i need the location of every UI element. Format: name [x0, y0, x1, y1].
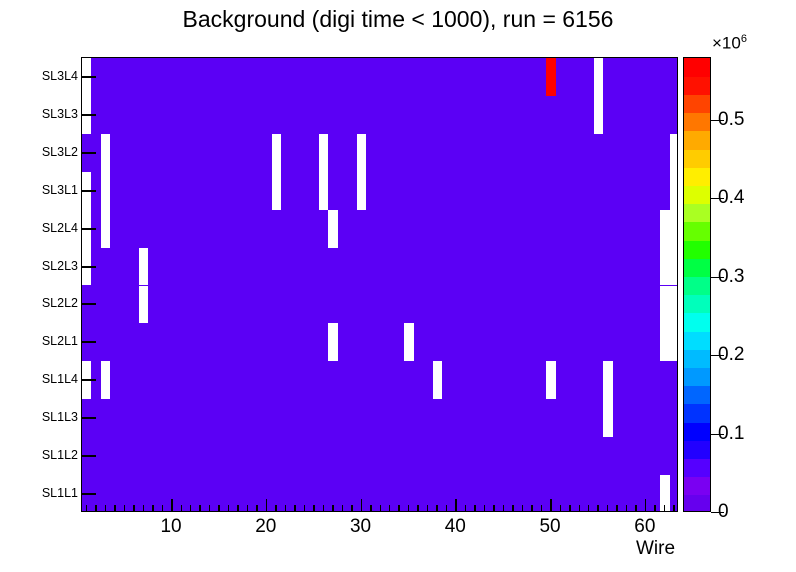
x-axis-minor-tick [304, 505, 306, 512]
heatmap-cell-empty[interactable] [404, 323, 413, 361]
y-axis-tick-label: SL2L4 [42, 221, 78, 235]
x-axis-minor-tick [380, 505, 382, 512]
x-axis-minor-tick [114, 505, 116, 512]
x-axis-minor-tick [181, 505, 183, 512]
palette-band [684, 258, 710, 277]
x-axis-minor-tick [408, 505, 410, 512]
y-axis-tick-mark [81, 493, 96, 495]
x-axis-minor-tick [417, 505, 419, 512]
palette-band [684, 313, 710, 332]
y-axis-tick-label: SL1L4 [42, 372, 78, 386]
y-axis-tick-mark [81, 455, 96, 457]
heatmap-cell-empty[interactable] [660, 248, 677, 286]
heatmap-cell-empty[interactable] [603, 361, 612, 399]
y-axis-tick-label: SL2L1 [42, 334, 78, 348]
heatmap-cells[interactable] [82, 58, 677, 511]
y-axis-tick-mark [81, 266, 96, 268]
x-axis-minor-tick [237, 505, 239, 512]
x-axis-minor-tick [446, 505, 448, 512]
palette-band [684, 495, 710, 512]
heatmap-cell-empty[interactable] [272, 134, 281, 172]
heatmap-cell-empty[interactable] [319, 172, 328, 210]
z-axis-tick-mark [711, 120, 724, 121]
y-axis-tick-mark [81, 417, 96, 419]
x-axis-minor-tick [133, 505, 135, 512]
x-axis-tick-label: 10 [160, 516, 181, 538]
plot-frame[interactable] [81, 57, 678, 512]
palette-band [684, 349, 710, 368]
heatmap-cell-empty[interactable] [101, 361, 110, 399]
x-axis-minor-tick [370, 505, 372, 512]
x-axis-minor-tick [218, 505, 220, 512]
x-axis-minor-tick [626, 505, 628, 512]
y-axis-tick-label: SL3L1 [42, 183, 78, 197]
palette-band [684, 458, 710, 477]
palette-band [684, 440, 710, 459]
x-axis-minor-tick [351, 505, 353, 512]
x-axis-minor-tick [474, 505, 476, 512]
palette-band [684, 167, 710, 186]
y-axis-tick-mark [81, 152, 96, 154]
x-axis-major-tick [550, 499, 552, 512]
palette-band [684, 185, 710, 204]
heatmap-cell-empty[interactable] [546, 361, 555, 399]
x-axis-tick-label: 60 [634, 516, 655, 538]
x-axis-tick-label: 20 [255, 516, 276, 538]
x-axis-minor-tick [190, 505, 192, 512]
x-axis-minor-tick [199, 505, 201, 512]
y-axis-tick-mark [81, 190, 96, 192]
x-axis-major-tick [455, 499, 457, 512]
x-axis-minor-tick [560, 505, 562, 512]
heatmap-cell-empty[interactable] [328, 210, 337, 248]
palette-band [684, 477, 710, 496]
color-palette-bar [683, 57, 711, 512]
x-axis-minor-tick [294, 505, 296, 512]
palette-band [684, 58, 710, 77]
x-axis-minor-tick [522, 505, 524, 512]
palette-band [684, 76, 710, 95]
heatmap-cell-empty[interactable] [670, 172, 677, 210]
x-axis-minor-tick [512, 505, 514, 512]
x-axis-minor-tick [635, 505, 637, 512]
x-axis-minor-tick [465, 505, 467, 512]
y-axis-tick-mark [81, 341, 96, 343]
y-axis-labels: SL3L4SL3L3SL3L2SL3L1SL2L4SL2L3SL2L2SL2L1… [0, 0, 78, 572]
x-axis-minor-tick [228, 505, 230, 512]
x-axis-labels: 102030405060 [0, 516, 796, 546]
x-axis-major-tick [645, 499, 647, 512]
plot-title: Background (digi time < 1000), run = 615… [0, 6, 796, 33]
palette-band [684, 149, 710, 168]
y-axis-tick-label: SL3L3 [42, 107, 78, 121]
heatmap-base-fill [82, 58, 677, 511]
x-axis-minor-tick [143, 505, 145, 512]
palette-band [684, 131, 710, 150]
heatmap-cell-empty[interactable] [433, 361, 442, 399]
palette-band [684, 331, 710, 350]
y-axis-tick-label: SL1L1 [42, 486, 78, 500]
heatmap-cell-empty[interactable] [357, 172, 366, 210]
x-axis-minor-tick [531, 505, 533, 512]
x-axis-minor-tick [541, 505, 543, 512]
palette-band [684, 422, 710, 441]
x-axis-minor-tick [332, 505, 334, 512]
y-axis-tick-mark [81, 76, 96, 78]
x-axis-minor-tick [389, 505, 391, 512]
z-axis-tick-mark [711, 434, 724, 435]
heatmap-cell-empty[interactable] [670, 134, 677, 172]
heatmap-cell-empty[interactable] [319, 134, 328, 172]
x-axis-minor-tick [162, 505, 164, 512]
y-axis-tick-label: SL2L3 [42, 259, 78, 273]
heatmap-cell-empty[interactable] [272, 172, 281, 210]
root-canvas: Background (digi time < 1000), run = 615… [0, 0, 796, 572]
y-axis-tick-label: SL3L2 [42, 145, 78, 159]
heatmap-cell-hot[interactable] [546, 58, 555, 96]
heatmap-cell-empty[interactable] [139, 286, 148, 324]
x-axis-major-tick [361, 499, 363, 512]
x-axis-tick-label: 50 [539, 516, 560, 538]
x-axis-major-tick [266, 499, 268, 512]
palette-band [684, 295, 710, 314]
x-axis-title: Wire [636, 538, 675, 560]
x-axis-minor-tick [673, 505, 675, 512]
x-axis-minor-tick [105, 505, 107, 512]
heatmap-cell-empty[interactable] [101, 134, 110, 172]
x-axis-minor-tick [124, 505, 126, 512]
x-axis-minor-tick [323, 505, 325, 512]
palette-band [684, 404, 710, 423]
palette-band [684, 276, 710, 295]
x-axis-minor-tick [616, 505, 618, 512]
x-axis-minor-tick [398, 505, 400, 512]
x-axis-minor-tick [247, 505, 249, 512]
x-axis-tick-label: 40 [445, 516, 466, 538]
heatmap-cell-empty[interactable] [328, 323, 337, 361]
x-axis-minor-tick [209, 505, 211, 512]
x-axis-major-tick [171, 499, 173, 512]
x-axis-minor-tick [256, 505, 258, 512]
x-axis-minor-tick [95, 505, 97, 512]
z-axis-tick-mark [711, 512, 724, 513]
x-axis-tick-label: 30 [350, 516, 371, 538]
y-axis-tick-mark [81, 228, 96, 230]
y-axis-tick-label: SL3L4 [42, 69, 78, 83]
z-axis-exponent: ×106 [712, 33, 747, 54]
heatmap-cell-empty[interactable] [660, 323, 677, 361]
heatmap-cell-empty[interactable] [139, 248, 148, 286]
y-axis-tick-label: SL1L2 [42, 448, 78, 462]
x-axis-minor-tick [313, 505, 315, 512]
x-axis-minor-tick [86, 505, 88, 512]
y-axis-tick-mark [81, 379, 96, 381]
palette-band [684, 386, 710, 405]
heatmap-cell-empty[interactable] [101, 210, 110, 248]
heatmap-cell-empty[interactable] [660, 210, 677, 248]
heatmap-cell-empty[interactable] [594, 58, 603, 96]
palette-band [684, 113, 710, 132]
x-axis-minor-tick [152, 505, 154, 512]
y-axis-tick-label: SL1L3 [42, 410, 78, 424]
palette-band [684, 204, 710, 223]
palette-band [684, 222, 710, 241]
x-axis-minor-tick [436, 505, 438, 512]
heatmap-cell-empty[interactable] [101, 172, 110, 210]
x-axis-minor-tick [569, 505, 571, 512]
heatmap-cell-empty[interactable] [357, 134, 366, 172]
heatmap-cell-empty[interactable] [603, 399, 612, 437]
y-axis-tick-label: SL2L2 [42, 296, 78, 310]
heatmap-cell-empty[interactable] [594, 96, 603, 134]
y-axis-tick-mark [81, 114, 96, 116]
x-axis-minor-tick [654, 505, 656, 512]
x-axis-minor-tick [342, 505, 344, 512]
palette-band [684, 94, 710, 113]
z-axis-tick-mark [711, 355, 724, 356]
x-axis-minor-tick [503, 505, 505, 512]
x-axis-minor-tick [579, 505, 581, 512]
x-axis-minor-tick [664, 505, 666, 512]
x-axis-minor-tick [588, 505, 590, 512]
x-axis-minor-tick [607, 505, 609, 512]
x-axis-minor-tick [285, 505, 287, 512]
palette-band [684, 367, 710, 386]
y-axis-tick-mark [81, 303, 96, 305]
x-axis-minor-tick [427, 505, 429, 512]
x-axis-minor-tick [597, 505, 599, 512]
heatmap-cell-empty[interactable] [660, 286, 677, 324]
z-axis-tick-mark [711, 198, 724, 199]
palette-band [684, 240, 710, 259]
z-axis-tick-mark [711, 277, 724, 278]
x-axis-minor-tick [484, 505, 486, 512]
x-axis-minor-tick [275, 505, 277, 512]
x-axis-minor-tick [493, 505, 495, 512]
